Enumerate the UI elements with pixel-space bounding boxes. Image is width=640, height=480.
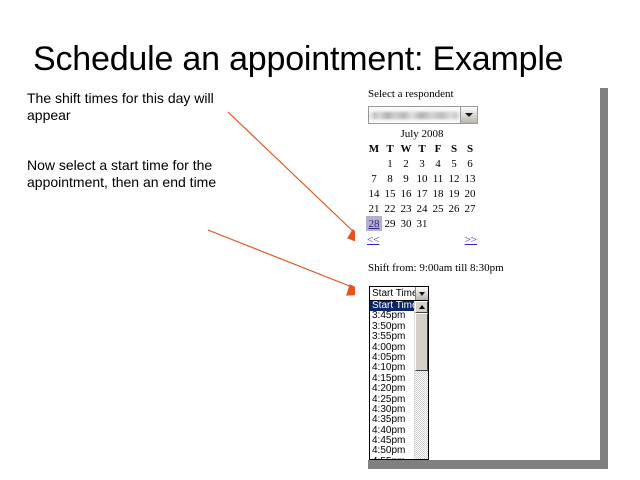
list-item[interactable]: 4:20pm (370, 384, 414, 394)
arrow-line-2 (208, 230, 352, 287)
calendar-week-row: 21 22 23 24 25 26 27 (366, 201, 478, 216)
start-time-option-list[interactable]: Start Time 3:45pm 3:50pm 3:55pm 4:00pm 4… (369, 300, 429, 460)
panel-shadow-bottom (368, 460, 608, 469)
calendar-day[interactable]: 7 (366, 171, 382, 186)
calendar-day-selected[interactable]: 28 (366, 216, 382, 231)
list-item[interactable]: 4:55pm (370, 457, 414, 459)
calendar-weekday: F (430, 142, 446, 156)
calendar-day[interactable]: 17 (414, 186, 430, 201)
calendar-day[interactable]: 5 (446, 156, 462, 171)
calendar-weekday: T (414, 142, 430, 156)
list-scrollbar[interactable] (414, 301, 428, 459)
start-time-combobox[interactable]: Start Time (369, 286, 429, 301)
start-time-selected-value: Start Time (370, 287, 415, 300)
calendar-day[interactable]: 25 (430, 201, 446, 216)
chevron-down-icon[interactable] (460, 107, 477, 123)
calendar-day[interactable]: 18 (430, 186, 446, 201)
calendar-day[interactable] (462, 216, 478, 231)
calendar-prev-month-link[interactable]: << (367, 234, 379, 246)
calendar-week-row: 7 8 9 10 11 12 13 (366, 171, 478, 186)
shift-hours-text: Shift from: 9:00am till 8:30pm (368, 262, 504, 274)
calendar-day[interactable]: 22 (382, 201, 398, 216)
chevron-down-icon[interactable] (415, 287, 428, 300)
annotation-shift-times: The shift times for this day will appear (27, 90, 242, 124)
calendar-day[interactable]: 31 (414, 216, 430, 231)
page-title: Schedule an appointment: Example (33, 38, 613, 80)
calendar-day[interactable]: 1 (382, 156, 398, 171)
calendar-day[interactable]: 27 (462, 201, 478, 216)
calendar-day[interactable]: 6 (462, 156, 478, 171)
calendar-day[interactable]: 11 (430, 171, 446, 186)
calendar-widget[interactable]: July 2008 M T W T F S S 1 2 3 4 5 6 (366, 128, 478, 250)
calendar-day[interactable]: 19 (446, 186, 462, 201)
calendar-day[interactable]: 4 (430, 156, 446, 171)
start-time-options-container: Start Time 3:45pm 3:50pm 3:55pm 4:00pm 4… (370, 301, 414, 459)
scroll-up-arrow-icon[interactable] (415, 301, 428, 313)
calendar-weekday: T (382, 142, 398, 156)
calendar-day[interactable]: 2 (398, 156, 414, 171)
list-item[interactable]: 3:55pm (370, 332, 414, 342)
calendar-weekday: M (366, 142, 382, 156)
calendar-day[interactable]: 20 (462, 186, 478, 201)
calendar-day[interactable]: 13 (462, 171, 478, 186)
calendar-weekday: S (446, 142, 462, 156)
calendar-day[interactable]: 30 (398, 216, 414, 231)
arrow-line-1 (228, 112, 358, 236)
scrollbar-thumb[interactable] (415, 313, 428, 371)
calendar-next-month-link[interactable]: >> (465, 234, 477, 246)
calendar-week-row: 14 15 16 17 18 19 20 (366, 186, 478, 201)
calendar-navigation: << >> (366, 234, 478, 250)
calendar-day[interactable]: 3 (414, 156, 430, 171)
calendar-table: M T W T F S S 1 2 3 4 5 6 7 8 9 (366, 142, 478, 231)
calendar-caption: July 2008 (366, 128, 478, 142)
respondent-label: Select a respondent (368, 88, 454, 100)
calendar-day[interactable]: 14 (366, 186, 382, 201)
calendar-week-row: 1 2 3 4 5 6 (366, 156, 478, 171)
respondent-select[interactable] (368, 106, 478, 124)
calendar-body: 1 2 3 4 5 6 7 8 9 10 11 12 13 14 15 16 1… (366, 156, 478, 231)
respondent-selected-value (369, 107, 460, 123)
calendar-weekday-row: M T W T F S S (366, 142, 478, 156)
calendar-day[interactable] (446, 216, 462, 231)
calendar-day[interactable]: 10 (414, 171, 430, 186)
calendar-weekday: S (462, 142, 478, 156)
annotation-select-start-time: Now select a start time for the appointm… (27, 157, 237, 191)
calendar-day[interactable]: 24 (414, 201, 430, 216)
calendar-day[interactable]: 16 (398, 186, 414, 201)
calendar-weekday: W (398, 142, 414, 156)
calendar-day[interactable]: 9 (398, 171, 414, 186)
calendar-week-row: 28 29 30 31 (366, 216, 478, 231)
calendar-day[interactable]: 12 (446, 171, 462, 186)
calendar-day[interactable]: 26 (446, 201, 462, 216)
calendar-day[interactable]: 23 (398, 201, 414, 216)
calendar-day[interactable] (366, 156, 382, 171)
calendar-day[interactable]: 21 (366, 201, 382, 216)
calendar-day[interactable]: 8 (382, 171, 398, 186)
calendar-day[interactable]: 29 (382, 216, 398, 231)
calendar-day[interactable]: 15 (382, 186, 398, 201)
calendar-day[interactable] (430, 216, 446, 231)
